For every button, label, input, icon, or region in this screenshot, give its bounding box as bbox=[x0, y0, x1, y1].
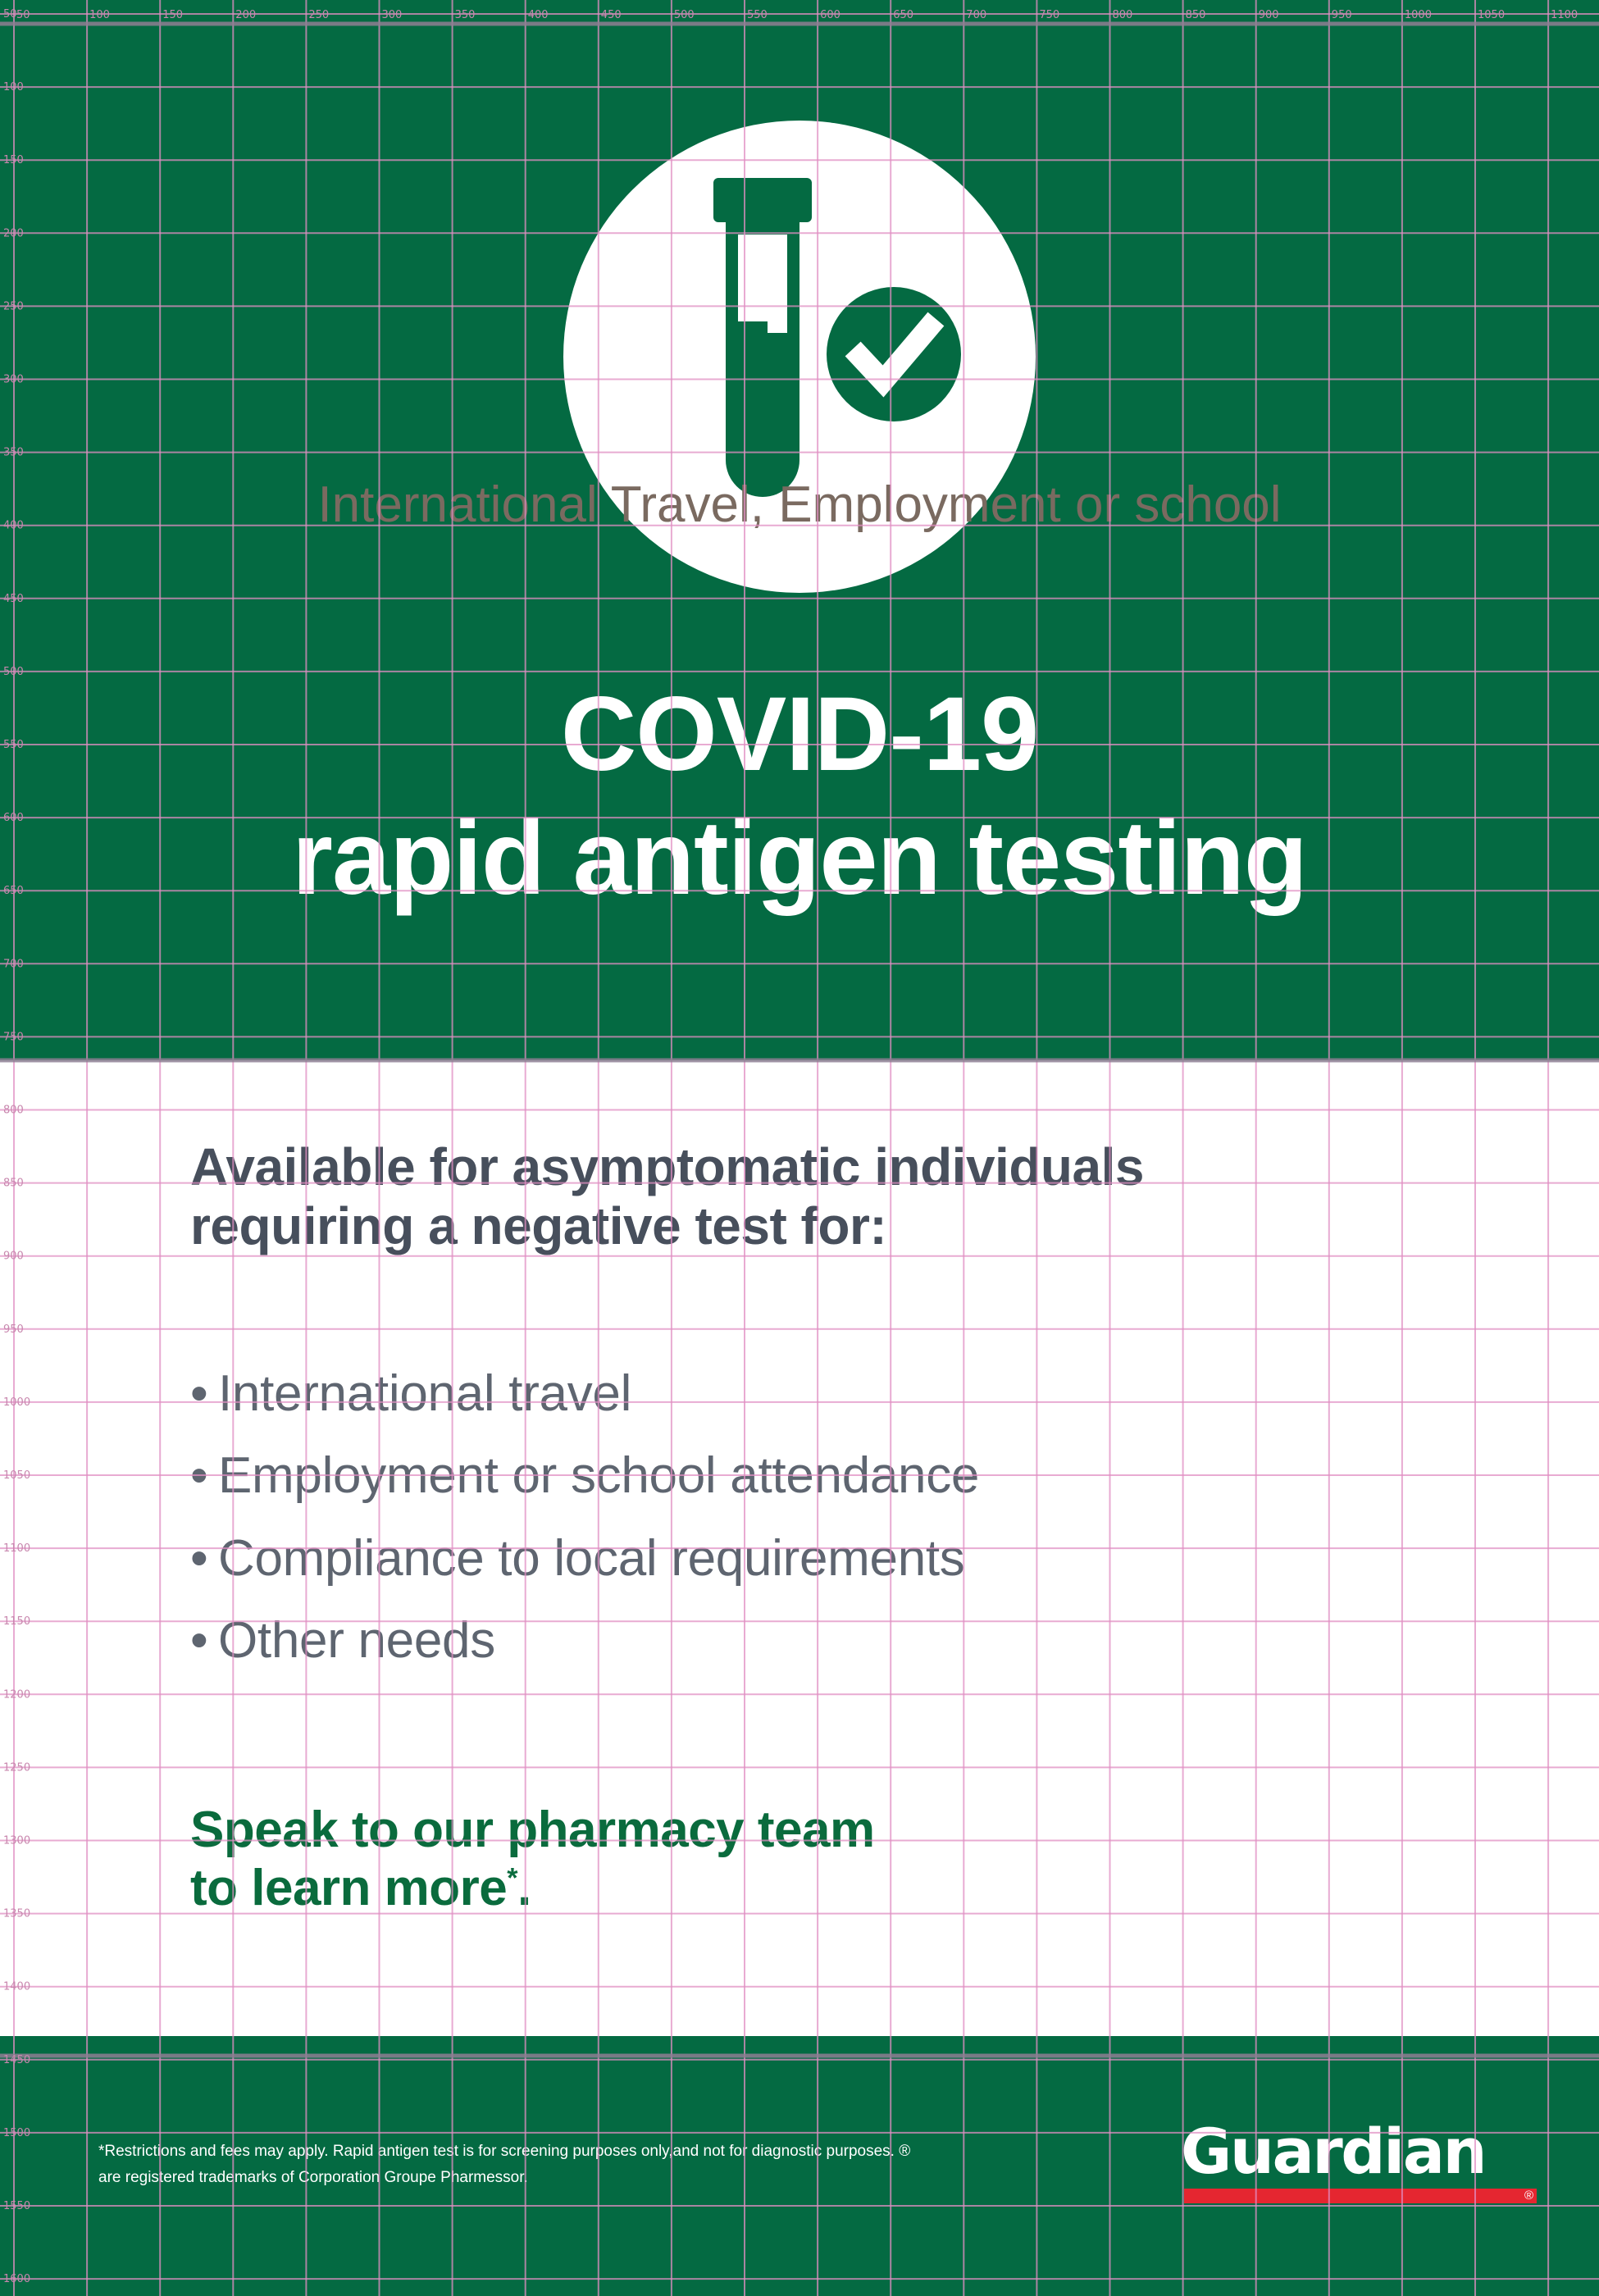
poster-canvas: International Travel, Employment or scho… bbox=[0, 0, 1599, 2296]
list-item: •Compliance to local requirements bbox=[190, 1518, 1519, 1600]
lead-line-2: requiring a negative test for: bbox=[190, 1196, 886, 1255]
list-item: •Other needs bbox=[190, 1600, 1519, 1682]
headline-line-1: COVID-19 bbox=[561, 676, 1038, 793]
overlay-headline: International Travel, Employment or scho… bbox=[0, 480, 1599, 531]
cta-period: . bbox=[517, 1860, 531, 1916]
lead-paragraph: Available for asymptomatic individuals r… bbox=[190, 1138, 1469, 1255]
poster-content: International Travel, Employment or scho… bbox=[0, 0, 1599, 2296]
footnote-marker: * bbox=[507, 1863, 517, 1894]
cta-line-1: Speak to our pharmacy team bbox=[190, 1802, 875, 1858]
list-item-label: Compliance to local requirements bbox=[218, 1530, 965, 1587]
headline-line-2: rapid antigen testing bbox=[0, 796, 1599, 920]
call-to-action: Speak to our pharmacy team to learn more… bbox=[190, 1801, 1338, 1918]
bullet-marker-icon: • bbox=[190, 1600, 218, 1682]
list-item-label: International travel bbox=[218, 1365, 631, 1422]
page-title: COVID-19 rapid antigen testing bbox=[0, 672, 1599, 920]
list-item-label: Employment or school attendance bbox=[218, 1447, 979, 1504]
disclaimer-line-1: *Restrictions and fees may apply. Rapid … bbox=[98, 2143, 822, 2160]
brand-underline-bar: ® bbox=[1184, 2189, 1537, 2203]
guardian-logo: Guardian ® bbox=[1181, 2121, 1554, 2203]
lead-line-1: Available for asymptomatic individuals bbox=[190, 1137, 1144, 1196]
list-item-label: Other needs bbox=[218, 1612, 495, 1669]
registered-trademark-icon: ® bbox=[1524, 2189, 1533, 2203]
footnote-disclaimer: *Restrictions and fees may apply. Rapid … bbox=[98, 2139, 935, 2192]
bullet-marker-icon: • bbox=[190, 1353, 218, 1435]
bullet-marker-icon: • bbox=[190, 1518, 218, 1600]
brand-wordmark: Guardian bbox=[1181, 2121, 1554, 2183]
cta-line-2: to learn more*. bbox=[190, 1859, 1338, 1917]
list-item: •International travel bbox=[190, 1353, 1519, 1435]
reason-list: •International travel •Employment or sch… bbox=[190, 1353, 1519, 1683]
bullet-marker-icon: • bbox=[190, 1435, 218, 1517]
cta-line-2-text: to learn more bbox=[190, 1860, 507, 1916]
list-item: •Employment or school attendance bbox=[190, 1435, 1519, 1517]
